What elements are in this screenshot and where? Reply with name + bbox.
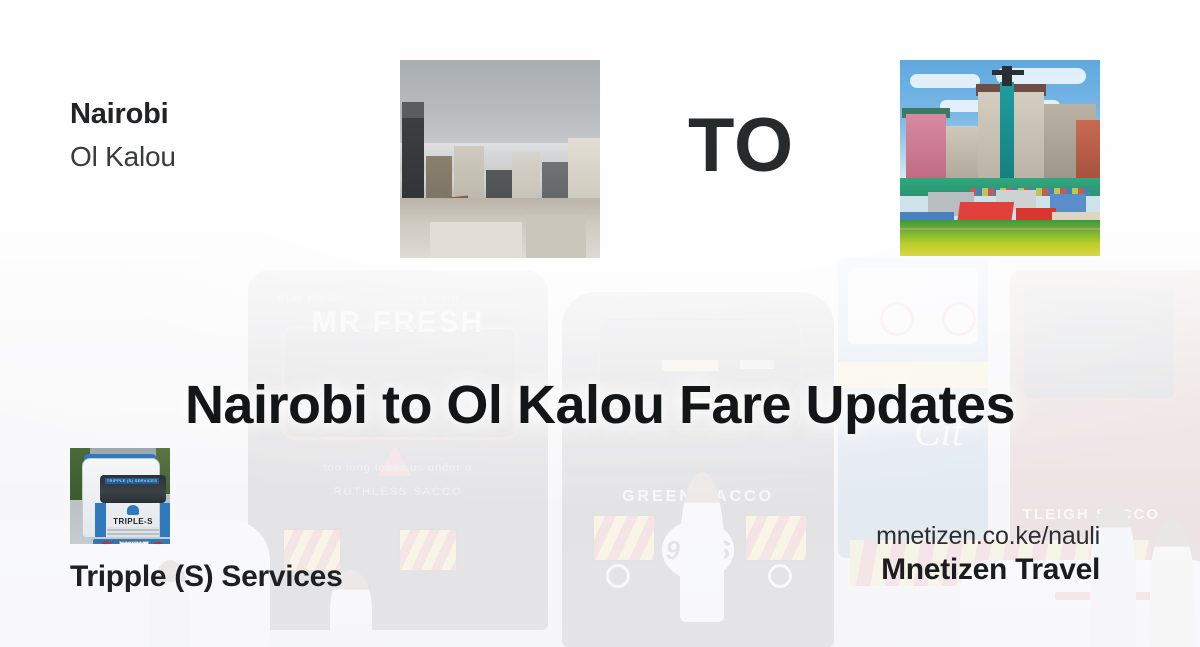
town-building bbox=[946, 126, 980, 178]
bus-reflector-icon bbox=[154, 542, 163, 544]
town-fence bbox=[900, 228, 1100, 230]
route-origin-label: Nairobi bbox=[70, 100, 176, 129]
bus-windscreen-text: TRIPPLE (S) SERVICES bbox=[105, 478, 159, 484]
bus-body: TRIPPLE (S) SERVICES TRIPLE-S bbox=[82, 458, 160, 538]
brand-block: mnetizen.co.ke/nauli Mnetizen Travel bbox=[876, 522, 1100, 587]
route-destination-label: Ol Kalou bbox=[70, 143, 176, 171]
bus-emblem-icon bbox=[127, 505, 139, 515]
brand-url-label: mnetizen.co.ke/nauli bbox=[876, 522, 1100, 551]
bus-grille bbox=[107, 527, 159, 537]
cloud bbox=[910, 74, 980, 88]
origin-city-photo bbox=[400, 60, 600, 258]
operator-bus-photo: TRIPPLE (S) SERVICES TRIPLE-S TRIPPLE S … bbox=[70, 448, 170, 544]
destination-town-photo bbox=[900, 60, 1100, 256]
banner-content: Nairobi Ol Kalou TO bbox=[0, 0, 1200, 647]
town-grass-field bbox=[900, 220, 1100, 256]
bus-branding-text: TRIPLE-S bbox=[99, 517, 167, 526]
operator-block: TRIPPLE (S) SERVICES TRIPLE-S TRIPPLE S … bbox=[70, 448, 342, 594]
town-stair-tower bbox=[1000, 82, 1014, 180]
brand-name-label: Mnetizen Travel bbox=[876, 553, 1100, 588]
route-label: Nairobi Ol Kalou bbox=[70, 100, 176, 171]
route-connector-label: TO bbox=[688, 108, 794, 184]
town-building bbox=[906, 114, 946, 178]
town-building bbox=[1076, 120, 1100, 178]
city-foreground-building bbox=[430, 222, 522, 258]
operator-name-label: Tripple (S) Services bbox=[70, 560, 342, 594]
fare-update-banner: Play Hard Work Hard MR FRESH too long le… bbox=[0, 0, 1200, 647]
bus-footer-text: TRIPPLE S SERVICES bbox=[90, 539, 150, 544]
page-title: Nairobi to Ol Kalou Fare Updates bbox=[0, 374, 1200, 436]
city-foreground-building bbox=[526, 214, 586, 258]
town-antenna bbox=[1002, 66, 1012, 86]
